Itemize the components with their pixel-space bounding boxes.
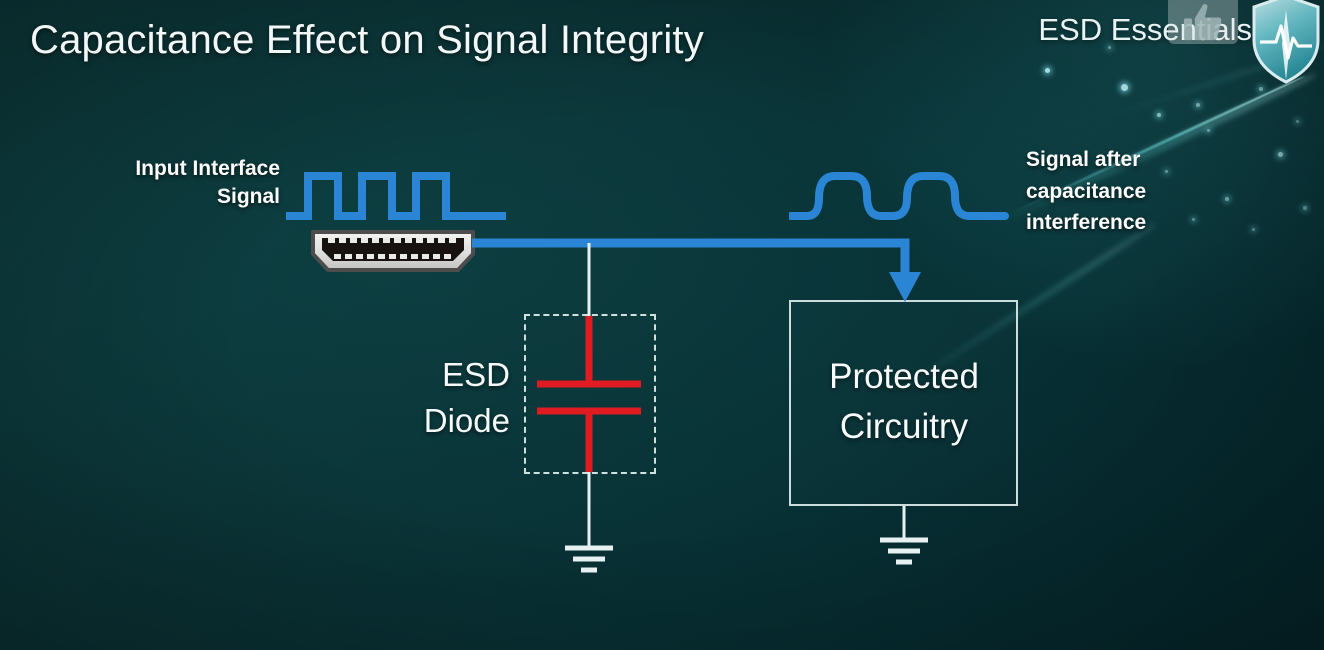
ground-symbol-icon <box>565 548 613 570</box>
ground-symbol-icon <box>880 540 928 562</box>
capacitor-symbol-icon <box>537 316 641 472</box>
signal-trace-blue <box>472 243 921 302</box>
arrow-down-icon <box>889 272 921 302</box>
circuit-wiring <box>0 0 1324 650</box>
slide-canvas: Capacitance Effect on Signal Integrity E… <box>0 0 1324 650</box>
